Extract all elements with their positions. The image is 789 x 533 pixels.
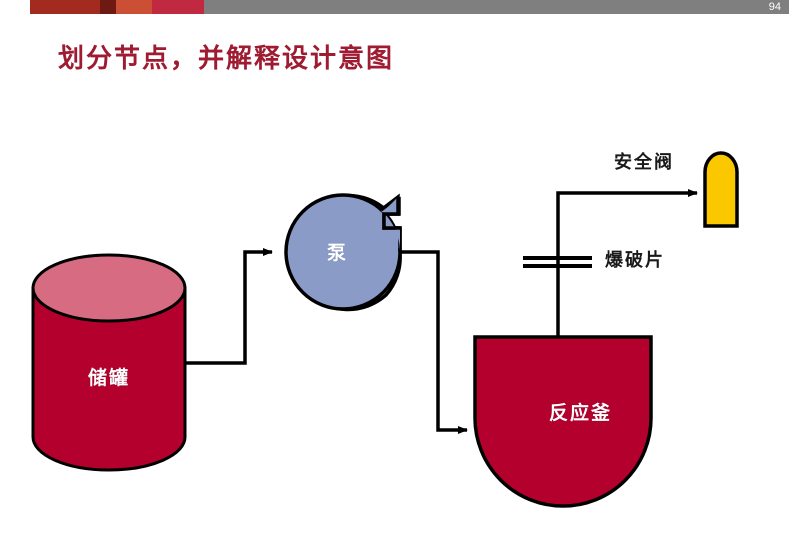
process-flow-diagram: 储罐 泵 反应釜 安全阀 爆破片	[0, 0, 789, 533]
pump-to-reactor-pipe	[401, 252, 467, 430]
pump-label: 泵	[327, 238, 348, 265]
slide-root: 94 划分节点，并解释设计意图	[0, 0, 789, 533]
storage-tank-label: 储罐	[88, 363, 130, 390]
tank-to-pump-pipe	[186, 252, 272, 363]
tank-top-ellipse	[33, 255, 185, 321]
reactor-label: 反应釜	[549, 398, 612, 425]
safety-valve-body	[705, 153, 737, 226]
safety-valve-label: 安全阀	[614, 148, 674, 174]
rupture-disc-label: 爆破片	[605, 246, 665, 272]
safety-valve-shape[interactable]	[705, 153, 737, 226]
